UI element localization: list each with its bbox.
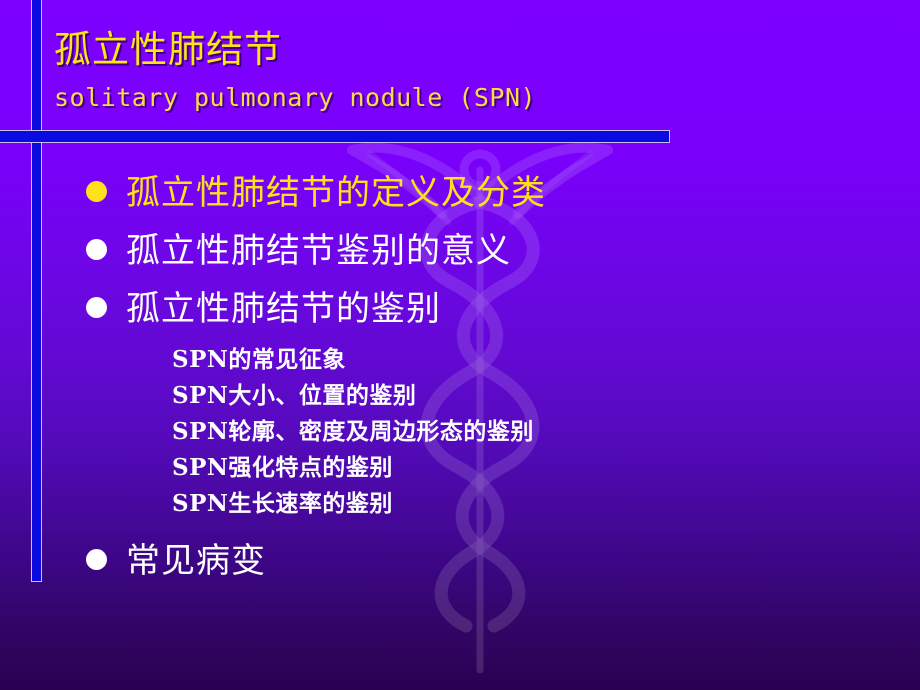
outline-item-1: 孤立性肺结节的定义及分类 [0,168,920,218]
sub-item-list: SPN的常见征象 SPN大小、位置的鉴别 SPN轮廓、密度及周边形态的鉴别 SP… [0,342,920,522]
sub-item: SPN轮廓、密度及周边形态的鉴别 [172,414,920,450]
slide-title-chinese: 孤立性肺结节 [54,28,282,72]
bullet-dot-icon [86,549,107,570]
sub-item: SPN大小、位置的鉴别 [172,378,920,414]
outline-item-4: 常见病变 [0,536,920,586]
outline-item-3: 孤立性肺结节的鉴别 [0,284,920,334]
bullet-dot-icon [86,239,107,260]
horizontal-accent-rule [0,130,670,143]
slide-title-english: solitary pulmonary nodule (SPN) [54,83,536,113]
bullet-dot-icon [86,297,107,318]
sub-item: SPN生长速率的鉴别 [172,486,920,522]
bullet-dot-icon [86,181,107,202]
outline-item-label: 孤立性肺结节鉴别的意义 [126,226,511,276]
sub-item: SPN强化特点的鉴别 [172,450,920,486]
outline-item-label: 孤立性肺结节的定义及分类 [126,168,546,218]
outline-item-label: 孤立性肺结节的鉴别 [126,284,441,334]
slide-body: 孤立性肺结节的定义及分类 孤立性肺结节鉴别的意义 孤立性肺结节的鉴别 SPN的常… [0,168,920,594]
presentation-slide: 孤立性肺结节 solitary pulmonary nodule (SPN) 孤… [0,0,920,690]
outline-item-label: 常见病变 [126,536,266,586]
sub-item: SPN的常见征象 [172,342,920,378]
outline-item-2: 孤立性肺结节鉴别的意义 [0,226,920,276]
